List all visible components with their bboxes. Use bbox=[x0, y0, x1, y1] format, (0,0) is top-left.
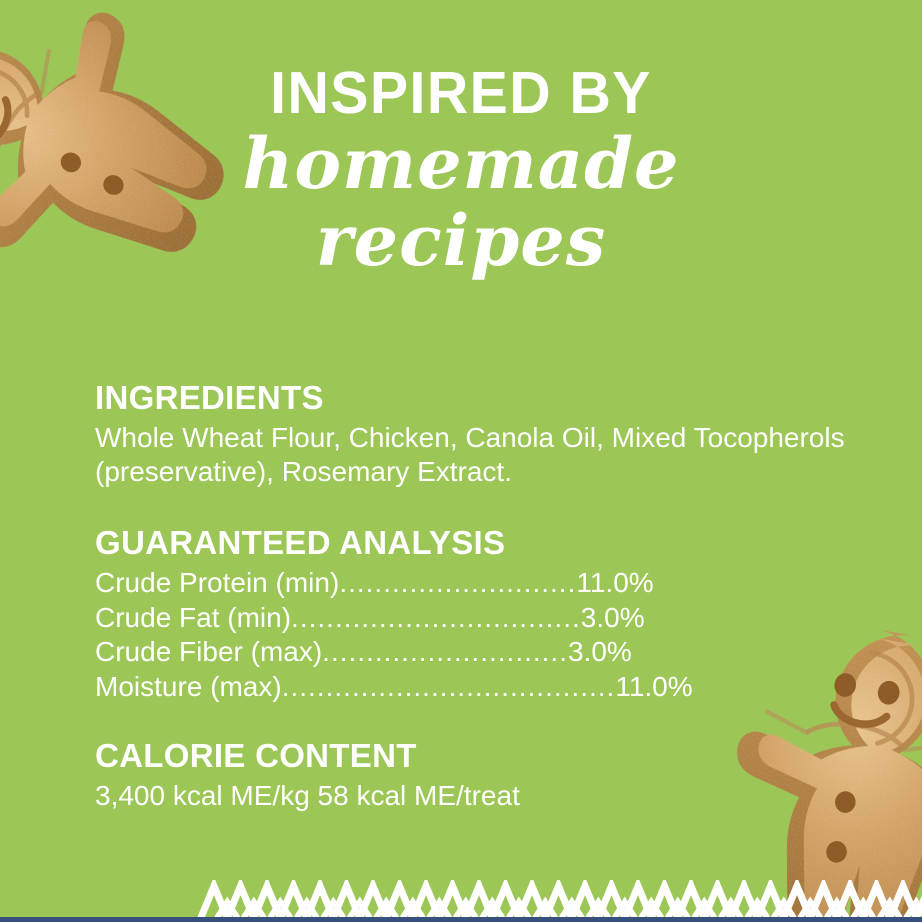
analysis-value: 3.0% bbox=[568, 636, 632, 667]
headline-script-homemade: homemade bbox=[0, 126, 922, 202]
nutrition-panel: INGREDIENTS Whole Wheat Flour, Chicken, … bbox=[95, 378, 895, 813]
guaranteed-analysis-row: Moisture (max)..........................… bbox=[95, 670, 895, 705]
calorie-content-text: 3,400 kcal ME/kg 58 kcal ME/treat bbox=[95, 779, 895, 813]
ingredients-heading: INGREDIENTS bbox=[95, 378, 895, 417]
analysis-label: Moisture (max) bbox=[95, 671, 282, 702]
calorie-content-heading: CALORIE CONTENT bbox=[95, 736, 895, 775]
guaranteed-analysis-row: Crude Protein (min).....................… bbox=[95, 566, 895, 601]
analysis-dot-leader: ........................... bbox=[339, 567, 576, 598]
ingredients-text: Whole Wheat Flour, Chicken, Canola Oil, … bbox=[95, 421, 895, 489]
analysis-value: 11.0% bbox=[615, 671, 692, 702]
headline-block: INSPIRED BY homemade recipes bbox=[0, 62, 922, 280]
analysis-value: 3.0% bbox=[581, 602, 645, 633]
analysis-dot-leader: ................................. bbox=[291, 602, 581, 633]
bottom-navy-bar bbox=[0, 917, 922, 922]
guaranteed-analysis-heading: GUARANTEED ANALYSIS bbox=[95, 523, 895, 562]
analysis-dot-leader: ............................ bbox=[322, 636, 568, 667]
guaranteed-analysis-section: GUARANTEED ANALYSIS Crude Protein (min).… bbox=[95, 523, 895, 704]
guaranteed-analysis-row: Crude Fiber (max).......................… bbox=[95, 635, 895, 670]
headline-inspired-by: INSPIRED BY bbox=[14, 62, 908, 124]
zigzag-pattern-band bbox=[0, 880, 922, 918]
analysis-dot-leader: ...................................... bbox=[282, 671, 616, 702]
calorie-content-section: CALORIE CONTENT 3,400 kcal ME/kg 58 kcal… bbox=[95, 736, 895, 813]
headline-script-recipes: recipes bbox=[0, 202, 922, 280]
analysis-value: 11.0% bbox=[576, 567, 653, 598]
ingredients-section: INGREDIENTS Whole Wheat Flour, Chicken, … bbox=[95, 378, 895, 489]
analysis-label: Crude Fiber (max) bbox=[95, 636, 322, 667]
guaranteed-analysis-list: Crude Protein (min).....................… bbox=[95, 566, 895, 704]
guaranteed-analysis-row: Crude Fat (min).........................… bbox=[95, 601, 895, 636]
analysis-label: Crude Fat (min) bbox=[95, 602, 291, 633]
analysis-label: Crude Protein (min) bbox=[95, 567, 339, 598]
packaging-panel: INSPIRED BY homemade recipes INGREDIENTS… bbox=[0, 0, 922, 922]
